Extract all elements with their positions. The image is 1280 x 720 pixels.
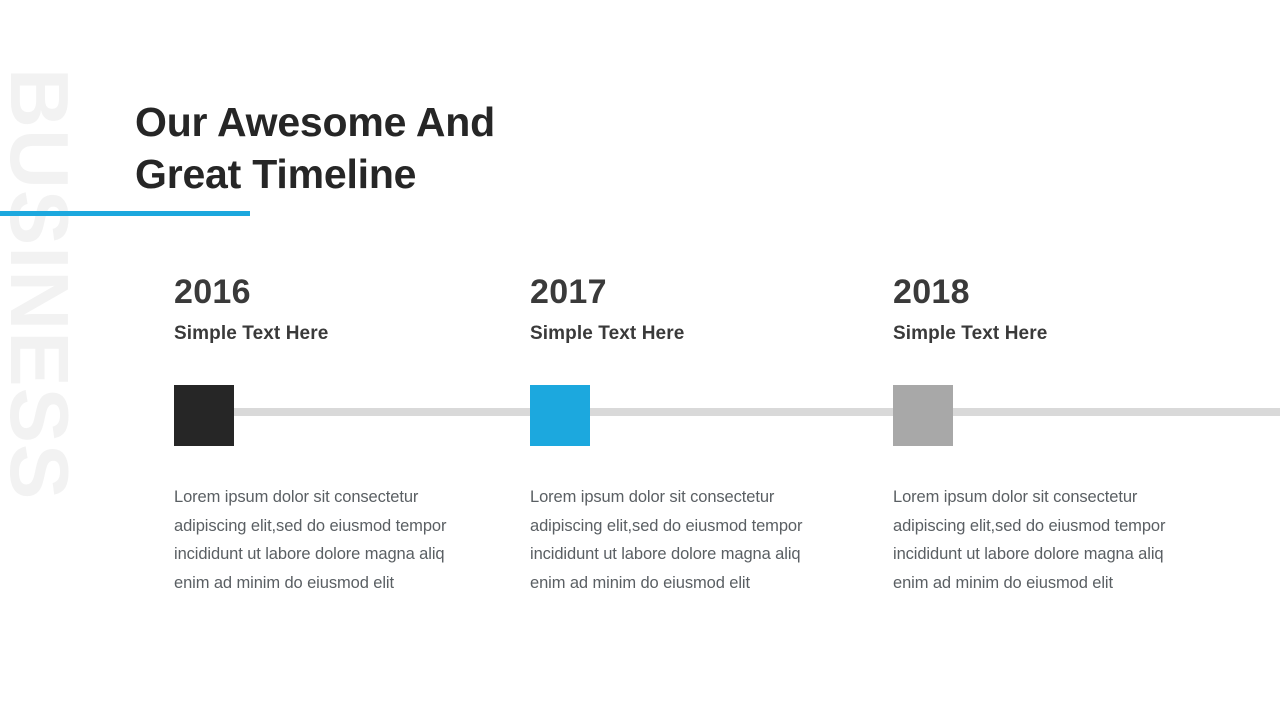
timeline-year-label: 2017 [530, 272, 860, 312]
business-watermark-text: BUSINESS [1, 68, 77, 650]
timeline-track [174, 408, 1280, 416]
timeline-subtitle: Simple Text Here [530, 322, 860, 346]
page-title: Our Awesome And Great Timeline [135, 96, 835, 200]
timeline-body-text: Lorem ipsum dolor sit consectetur adipis… [893, 483, 1185, 597]
timeline-column-2017: 2017 Simple Text Here Lorem ipsum dolor … [530, 272, 860, 346]
page-title-line-2: Great Timeline [135, 148, 835, 200]
timeline-marker-square[interactable] [174, 385, 234, 446]
timeline-slide: BUSINESS Our Awesome And Great Timeline … [0, 0, 1280, 720]
timeline-subtitle: Simple Text Here [174, 322, 504, 346]
timeline-marker-square[interactable] [893, 385, 953, 446]
timeline-year-label: 2016 [174, 272, 504, 312]
timeline-marker-square[interactable] [530, 385, 590, 446]
timeline-body-text: Lorem ipsum dolor sit consectetur adipis… [174, 483, 466, 597]
timeline-year-label: 2018 [893, 272, 1223, 312]
timeline-column-2018: 2018 Simple Text Here Lorem ipsum dolor … [893, 272, 1223, 346]
timeline-subtitle: Simple Text Here [893, 322, 1223, 346]
title-accent-rule [0, 211, 250, 216]
timeline-column-2016: 2016 Simple Text Here Lorem ipsum dolor … [174, 272, 504, 346]
page-title-line-1: Our Awesome And [135, 96, 835, 148]
timeline-body-text: Lorem ipsum dolor sit consectetur adipis… [530, 483, 822, 597]
